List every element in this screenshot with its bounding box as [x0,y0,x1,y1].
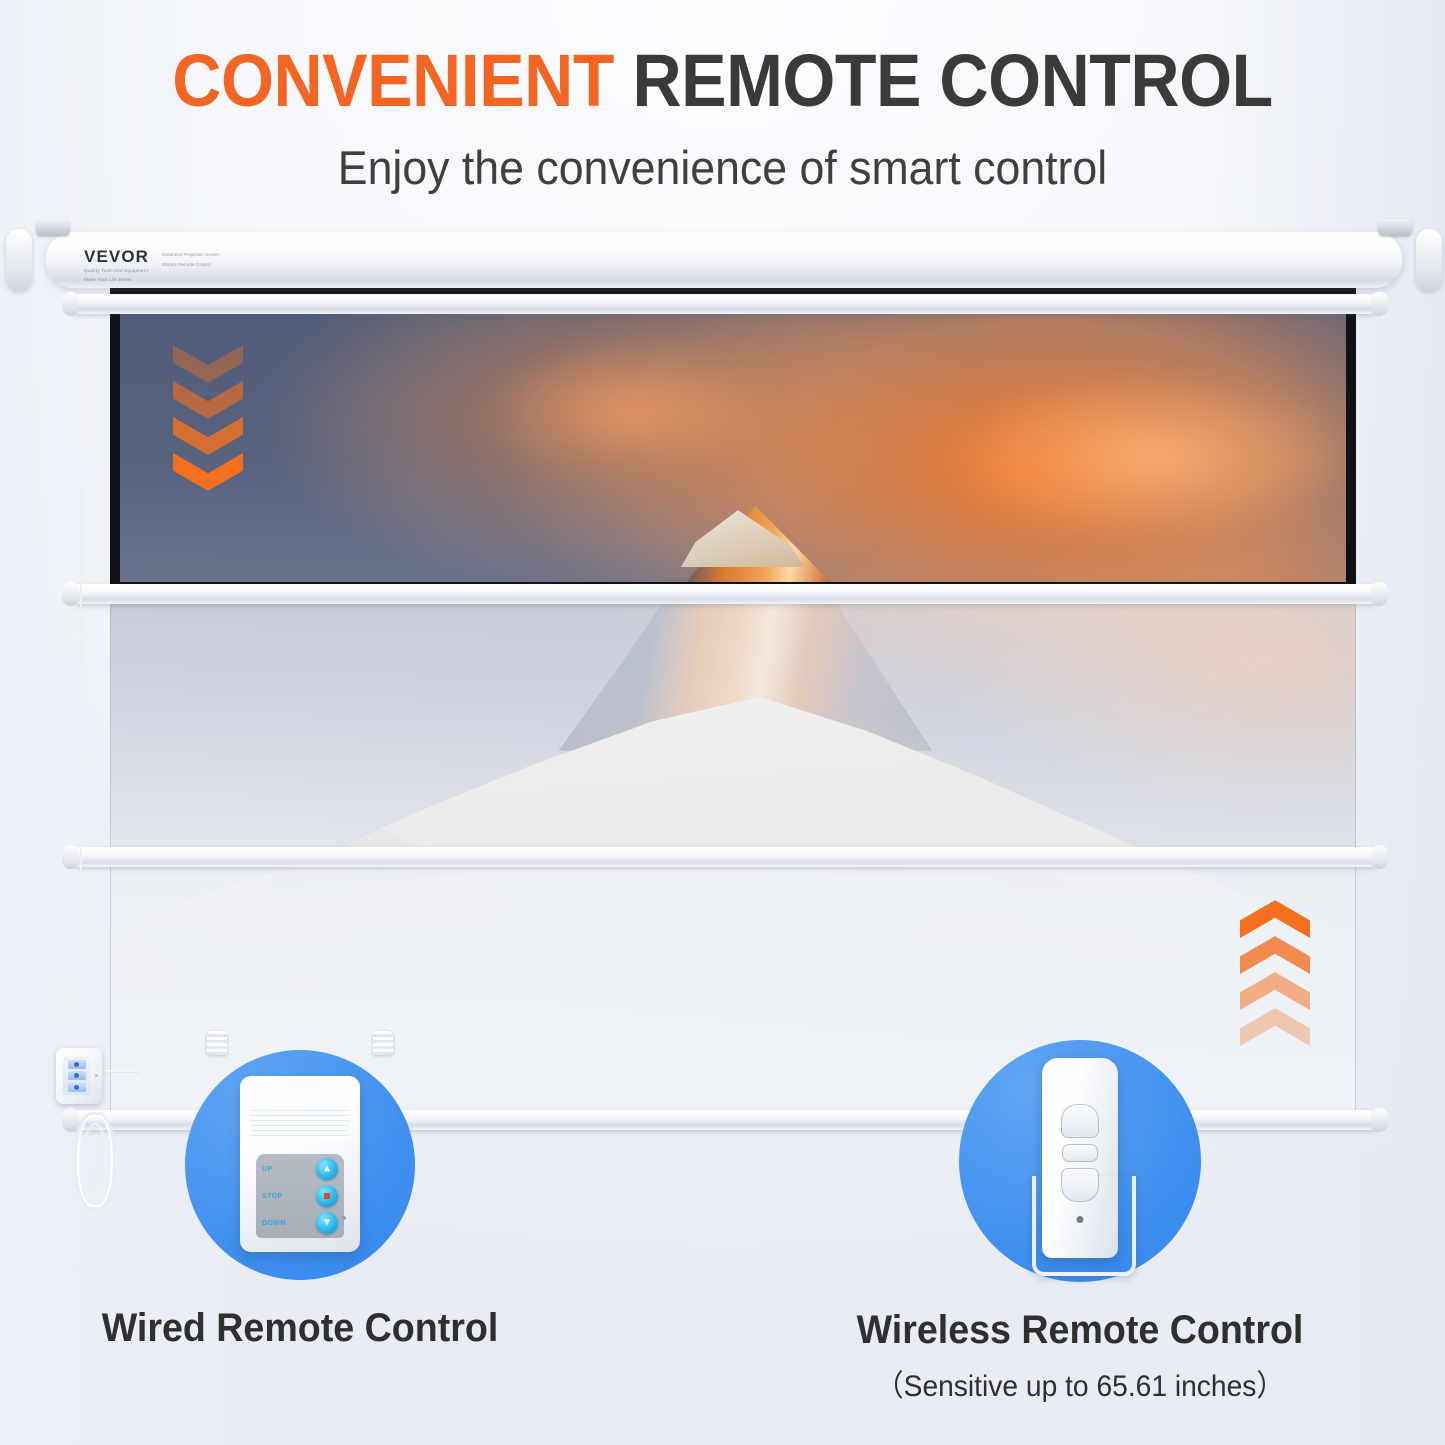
screen-surface-preview-mid [110,594,1356,856]
projector-screen-assembly: VEVOR Quality Tools And Equipment Make Y… [28,232,1420,1142]
rod-end-right [1371,845,1388,869]
chevron-down-icon [173,345,243,389]
brand-tagline-line2: Make Your Life Better [84,276,149,283]
chevron-up-icon [1240,966,1310,1010]
header: CONVENIENT REMOTE CONTROL Enjoy the conv… [0,44,1445,195]
housing-label-line1: Motorized Projection Screen [162,251,220,258]
housing-end-cap-left [6,229,32,291]
brand-logo: VEVOR [84,248,149,265]
device-indicator-dot [342,1216,346,1220]
preview-veil [110,594,1356,856]
control-cable [80,484,82,1050]
page-subtitle: Enjoy the convenience of smart control [36,140,1409,195]
callout-wireless-remote: Wireless Remote Control （Sensitive up to… [820,1040,1340,1405]
screen-housing: VEVOR Quality Tools And Equipment Make Y… [46,232,1402,288]
housing-label-line2: Electric Remote Control [162,261,220,268]
screen-surface-active [110,302,1356,592]
callout-circle-wireless [959,1040,1201,1282]
callout-wired-remote: UP ▲ STOP DOWN ▼ [40,1050,560,1351]
chevron-up-icon-group [1240,894,1310,1038]
screen-weight-bar-position-1 [70,584,1380,604]
wired-button-row-up[interactable]: UP ▲ [262,1158,338,1180]
wireless-up-button[interactable] [1061,1104,1099,1138]
wired-up-button[interactable]: ▲ [316,1158,338,1180]
rod-end-right [1371,1108,1388,1132]
wired-stop-button[interactable] [316,1185,338,1207]
cloud-right [868,335,1356,580]
wired-stop-label: STOP [262,1193,310,1200]
arrow-up-icon: ▲ [322,1164,333,1175]
wall-mount-clip [1032,1176,1136,1276]
rod-end-left [62,845,79,869]
device-vent-grille [251,1110,349,1140]
wired-down-button[interactable]: ▼ [316,1212,338,1234]
rod-end-left [62,582,79,606]
rod-end-right [1371,292,1388,316]
rod-end-right [1371,582,1388,606]
chevron-down-icon [173,417,243,461]
chevron-up-icon [1240,894,1310,938]
mounting-bracket-left [36,219,70,236]
headline-rest: REMOTE CONTROL [632,39,1272,122]
arrow-down-icon: ▼ [322,1218,333,1229]
callout-title-wireless: Wireless Remote Control [836,1308,1325,1353]
callout-circle-wired: UP ▲ STOP DOWN ▼ [185,1050,415,1280]
cable-plug-left-icon [207,1031,227,1055]
wired-remote-device[interactable]: UP ▲ STOP DOWN ▼ [240,1076,360,1252]
screen-weight-bar-position-2 [70,847,1380,867]
chevron-down-icon-group [173,345,243,489]
headline-highlight: CONVENIENT [172,39,614,122]
chevron-up-icon [1240,930,1310,974]
screen-artwork-upper [120,302,1356,592]
rod-end-left [62,292,79,316]
screen-weight-bar-top [70,294,1380,314]
callout-note-wireless: （Sensitive up to 65.61 inches） [836,1361,1325,1405]
chevron-down-icon [173,381,243,425]
wireless-stop-button[interactable] [1062,1144,1098,1162]
callout-title-wired: Wired Remote Control [56,1306,545,1351]
page-title: CONVENIENT REMOTE CONTROL [58,44,1387,118]
wired-down-label: DOWN [262,1220,310,1227]
wired-button-row-stop[interactable]: STOP [262,1185,338,1207]
wired-remote-keypad[interactable]: UP ▲ STOP DOWN ▼ [256,1154,344,1238]
brand-plate: VEVOR Quality Tools And Equipment Make Y… [84,248,220,283]
brand-tagline-line1: Quality Tools And Equipment [84,267,149,274]
mounting-bracket-right [1378,219,1412,236]
wired-up-label: UP [262,1166,310,1173]
wired-button-row-down[interactable]: DOWN ▼ [262,1212,338,1234]
housing-end-cap-right [1416,229,1442,291]
cloud-left [419,318,843,498]
cable-plug-right-icon [373,1031,393,1055]
product-marketing-banner: CONVENIENT REMOTE CONTROL Enjoy the conv… [0,0,1445,1445]
stop-square-icon [324,1193,330,1199]
wireless-remote-device[interactable] [1034,1058,1126,1268]
